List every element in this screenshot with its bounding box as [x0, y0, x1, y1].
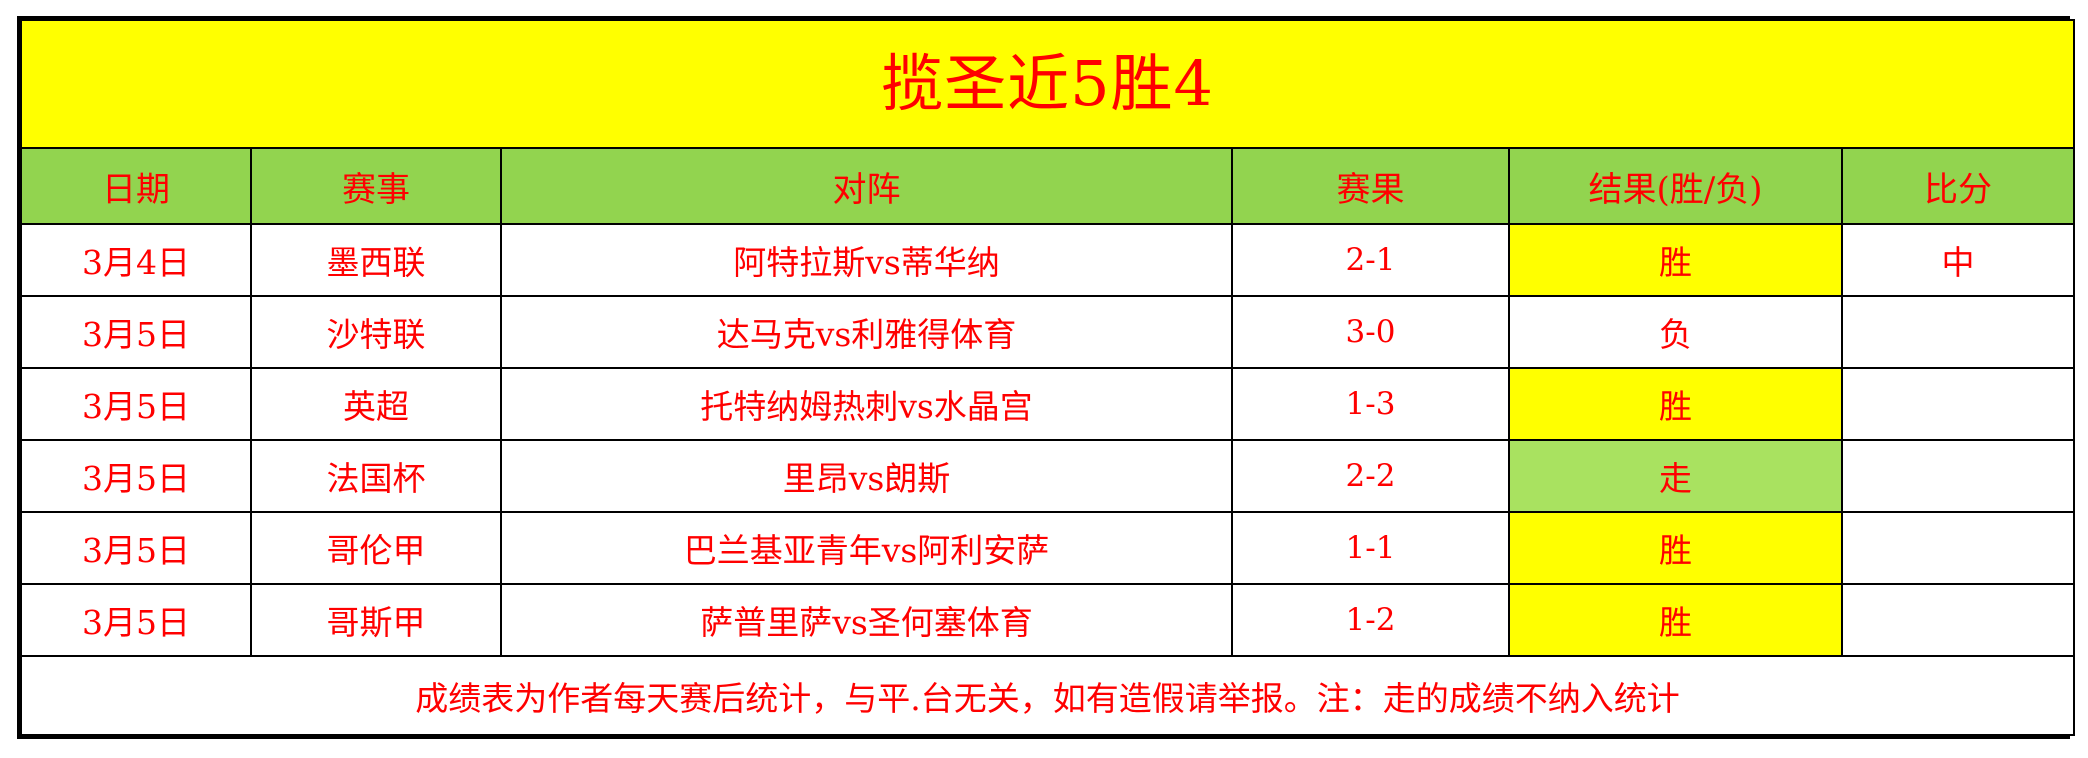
table-row: 3月4日 墨西联 阿特拉斯vs蒂华纳 2-1 胜 中 [21, 224, 2074, 296]
table-row: 3月5日 法国杯 里昂vs朗斯 2-2 走 [21, 440, 2074, 512]
cell-league: 墨西联 [251, 224, 501, 296]
cell-rating [1842, 584, 2074, 656]
cell-score: 1-3 [1232, 368, 1509, 440]
title-row: 揽圣近5胜4 [21, 20, 2074, 148]
cell-match: 巴兰基亚青年vs阿利安萨 [501, 512, 1232, 584]
cell-league: 哥伦甲 [251, 512, 501, 584]
cell-match: 达马克vs利雅得体育 [501, 296, 1232, 368]
cell-result: 胜 [1509, 512, 1842, 584]
cell-date: 3月4日 [21, 224, 251, 296]
page-title-cell: 揽圣近5胜4 [21, 20, 2074, 148]
cell-result: 胜 [1509, 368, 1842, 440]
cell-rating [1842, 368, 2074, 440]
table-row: 3月5日 哥伦甲 巴兰基亚青年vs阿利安萨 1-1 胜 [21, 512, 2074, 584]
cell-date: 3月5日 [21, 584, 251, 656]
column-header-rating: 比分 [1842, 148, 2074, 224]
column-header-match: 对阵 [501, 148, 1232, 224]
footer-row: 成绩表为作者每天赛后统计，与平.台无关，如有造假请举报。注：走的成绩不纳入统计 [21, 656, 2074, 735]
table-row: 3月5日 哥斯甲 萨普里萨vs圣何塞体育 1-2 胜 [21, 584, 2074, 656]
cell-league: 英超 [251, 368, 501, 440]
cell-match: 阿特拉斯vs蒂华纳 [501, 224, 1232, 296]
cell-date: 3月5日 [21, 512, 251, 584]
cell-score: 3-0 [1232, 296, 1509, 368]
page-title: 揽圣近5胜4 [22, 53, 2073, 115]
cell-league: 沙特联 [251, 296, 501, 368]
column-header-result: 结果(胜/负) [1509, 148, 1842, 224]
column-header-league: 赛事 [251, 148, 501, 224]
cell-date: 3月5日 [21, 368, 251, 440]
cell-rating [1842, 440, 2074, 512]
cell-match: 里昂vs朗斯 [501, 440, 1232, 512]
cell-league: 法国杯 [251, 440, 501, 512]
cell-result: 走 [1509, 440, 1842, 512]
cell-league: 哥斯甲 [251, 584, 501, 656]
results-table-sheet: 揽圣近5胜4 日期 赛事 对阵 赛果 结果(胜/负) 比分 3月4日 墨西联 阿… [17, 16, 2070, 739]
cell-match: 托特纳姆热刺vs水晶宫 [501, 368, 1232, 440]
column-header-score: 赛果 [1232, 148, 1509, 224]
cell-score: 1-1 [1232, 512, 1509, 584]
cell-match: 萨普里萨vs圣何塞体育 [501, 584, 1232, 656]
cell-score: 2-1 [1232, 224, 1509, 296]
cell-result: 胜 [1509, 584, 1842, 656]
results-table: 揽圣近5胜4 日期 赛事 对阵 赛果 结果(胜/负) 比分 3月4日 墨西联 阿… [20, 19, 2075, 736]
cell-rating [1842, 296, 2074, 368]
table-row: 3月5日 英超 托特纳姆热刺vs水晶宫 1-3 胜 [21, 368, 2074, 440]
table-row: 3月5日 沙特联 达马克vs利雅得体育 3-0 负 [21, 296, 2074, 368]
header-row: 日期 赛事 对阵 赛果 结果(胜/负) 比分 [21, 148, 2074, 224]
cell-rating [1842, 512, 2074, 584]
cell-result: 胜 [1509, 224, 1842, 296]
cell-date: 3月5日 [21, 440, 251, 512]
cell-date: 3月5日 [21, 296, 251, 368]
cell-score: 1-2 [1232, 584, 1509, 656]
footer-note: 成绩表为作者每天赛后统计，与平.台无关，如有造假请举报。注：走的成绩不纳入统计 [21, 656, 2074, 735]
column-header-date: 日期 [21, 148, 251, 224]
cell-result: 负 [1509, 296, 1842, 368]
cell-rating: 中 [1842, 224, 2074, 296]
cell-score: 2-2 [1232, 440, 1509, 512]
